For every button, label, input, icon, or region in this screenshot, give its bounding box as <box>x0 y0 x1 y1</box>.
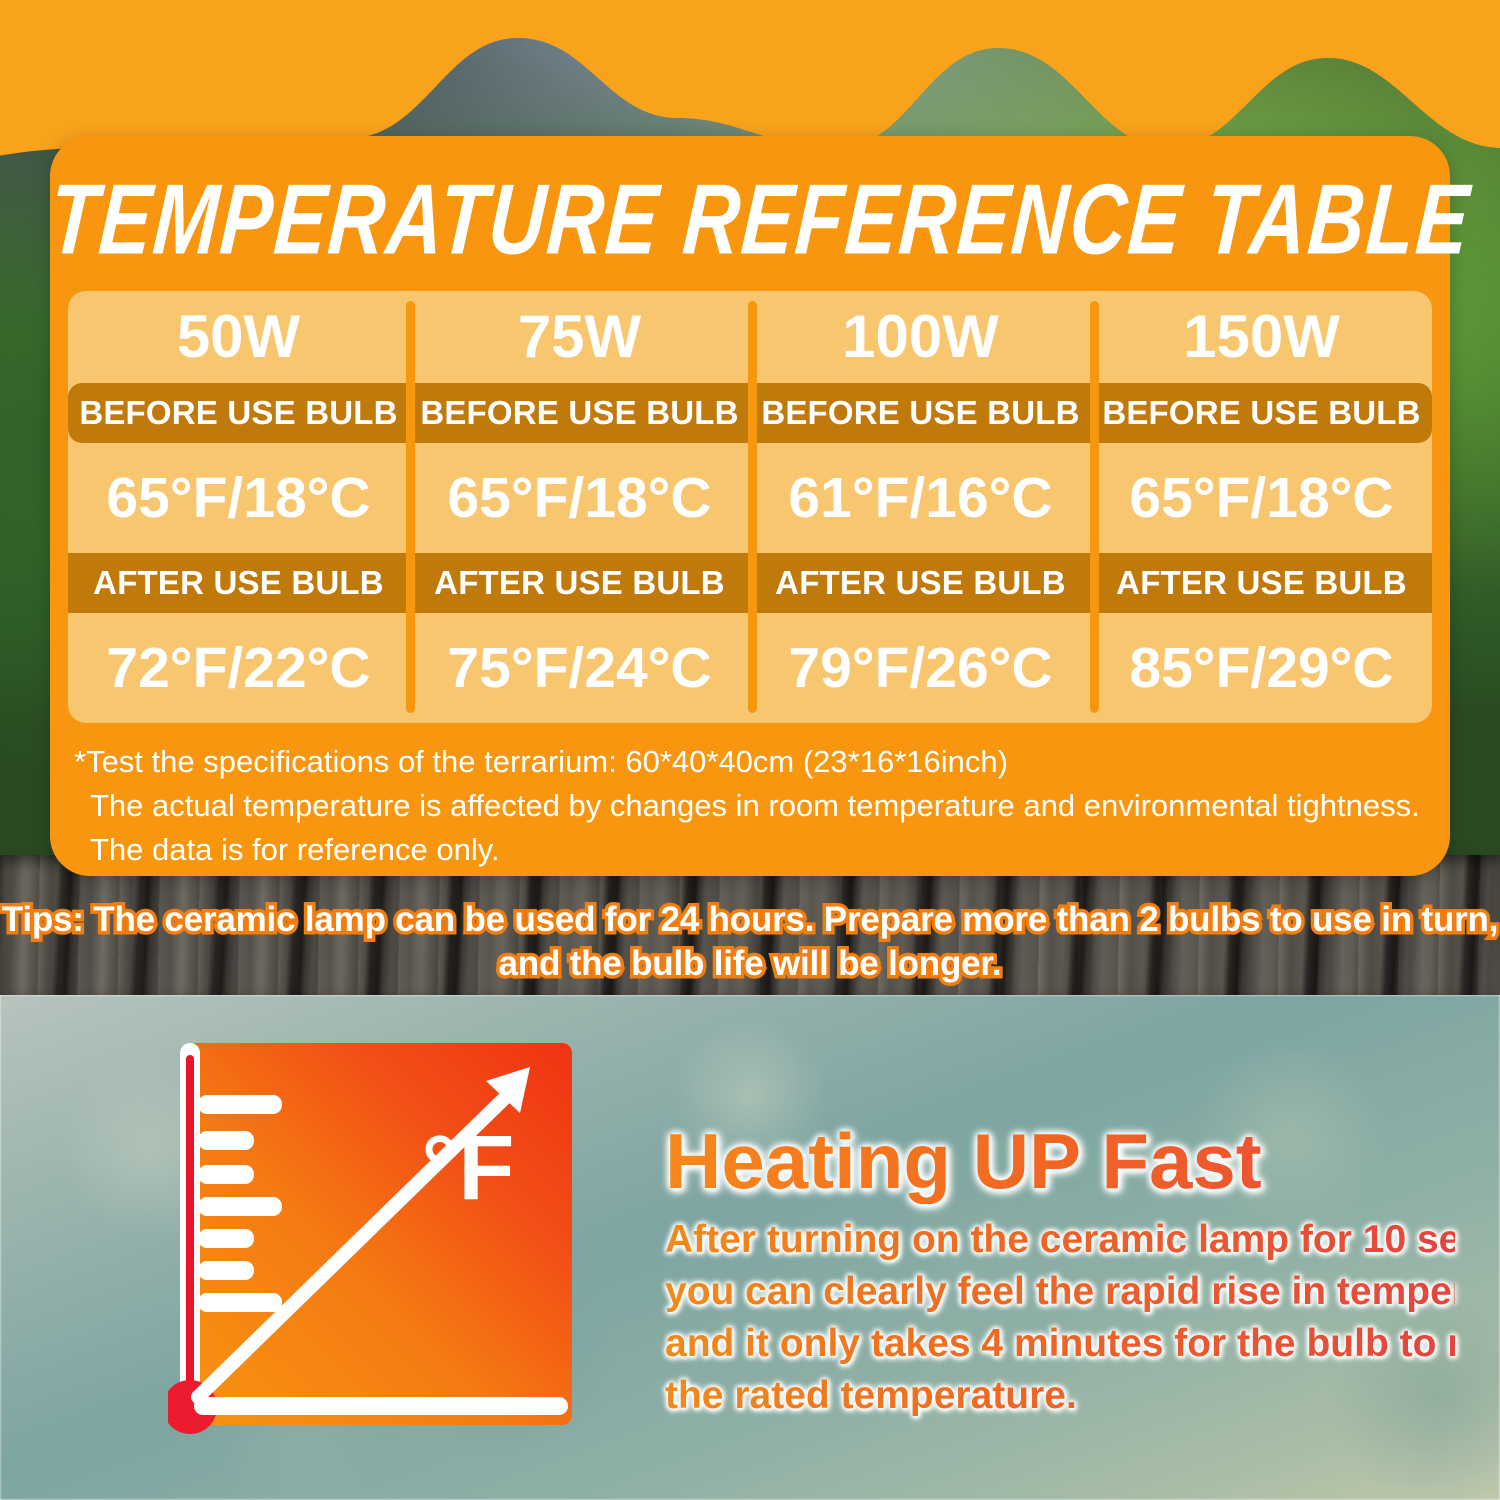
temperature-table-section: TEMPERATURE REFERENCE TABLE 50W 75W 100W… <box>0 0 1500 995</box>
before-use-value: 65°F/18°C <box>68 443 409 553</box>
thermometer-chart-icon: °F <box>168 1037 576 1435</box>
heating-headline: Heating UP Fast <box>665 1118 1455 1204</box>
heating-copy-block: Heating UP Fast After turning on the cer… <box>665 1118 1455 1422</box>
column-divider <box>1090 301 1099 713</box>
tips-line: and the bulb life will be longer. <box>0 942 1500 986</box>
page-title: TEMPERATURE REFERENCE TABLE <box>45 149 1455 290</box>
heating-body-line: the rated temperature. <box>665 1370 1455 1422</box>
temperature-card: TEMPERATURE REFERENCE TABLE 50W 75W 100W… <box>50 136 1450 876</box>
column-divider <box>748 301 757 713</box>
before-use-value: 61°F/16°C <box>750 443 1091 553</box>
footnote-line: *Test the specifications of the terrariu… <box>74 740 1424 784</box>
footnote-text: *Test the specifications of the terrariu… <box>74 740 1424 872</box>
heating-body-text: After turning on the ceramic lamp for 10… <box>665 1214 1455 1422</box>
thermometer-mercury <box>186 1055 194 1411</box>
after-use-value: 85°F/29°C <box>1091 613 1432 723</box>
tips-text: Tips: The ceramic lamp can be used for 2… <box>0 898 1500 986</box>
temperature-table: 50W 75W 100W 150W BEFORE USE BULB BEFORE… <box>68 291 1432 723</box>
baseline-axis <box>194 1397 568 1415</box>
before-use-label: BEFORE USE BULB <box>1091 383 1432 443</box>
footnote-line: The data is for reference only. <box>74 828 1424 872</box>
after-use-label: AFTER USE BULB <box>68 553 409 613</box>
after-use-label: AFTER USE BULB <box>1091 553 1432 613</box>
before-use-label: BEFORE USE BULB <box>750 383 1091 443</box>
footnote-line: The actual temperature is affected by ch… <box>74 784 1424 828</box>
after-use-value: 79°F/26°C <box>750 613 1091 723</box>
before-use-value: 65°F/18°C <box>409 443 750 553</box>
wattage-header-cell: 75W <box>409 291 750 383</box>
heating-body-line: you can clearly feel the rapid rise in t… <box>665 1266 1455 1318</box>
tips-line: Tips: The ceramic lamp can be used for 2… <box>0 898 1500 942</box>
degrees-fahrenheit-label: °F <box>422 1117 515 1219</box>
after-use-value: 72°F/22°C <box>68 613 409 723</box>
after-use-label: AFTER USE BULB <box>409 553 750 613</box>
after-use-label: AFTER USE BULB <box>750 553 1091 613</box>
after-use-value: 75°F/24°C <box>409 613 750 723</box>
heating-body-line: and it only takes 4 minutes for the bulb… <box>665 1318 1455 1370</box>
before-use-label: BEFORE USE BULB <box>68 383 409 443</box>
before-use-label: BEFORE USE BULB <box>409 383 750 443</box>
infographic-page: TEMPERATURE REFERENCE TABLE 50W 75W 100W… <box>0 0 1500 1500</box>
heating-body-line: After turning on the ceramic lamp for 10… <box>665 1214 1455 1266</box>
before-use-value: 65°F/18°C <box>1091 443 1432 553</box>
wattage-header-cell: 100W <box>750 291 1091 383</box>
wattage-header-cell: 150W <box>1091 291 1432 383</box>
wattage-header-cell: 50W <box>68 291 409 383</box>
column-divider <box>406 301 415 713</box>
